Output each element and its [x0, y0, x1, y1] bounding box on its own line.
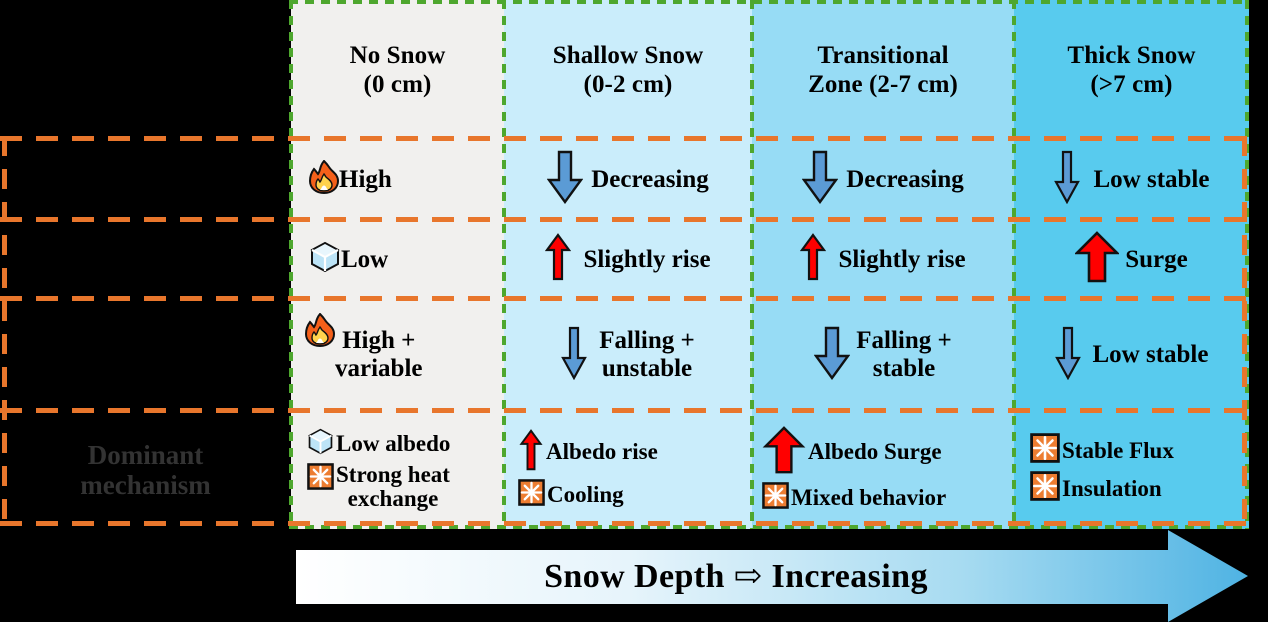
row-1-cell-no-snow: High: [291, 139, 504, 220]
arrow-up-red-thin-icon: [800, 233, 826, 286]
header-shallow-snow-line2: (0-2 cm): [553, 70, 704, 99]
row-1-cell-shallow-snow: Decreasing: [504, 139, 752, 220]
column-divider-green: [750, 0, 754, 529]
row-3-shallow-snow-line1: Falling +: [599, 327, 695, 356]
row-divider-orange: [0, 408, 1249, 413]
mechanism-list-thick-snow: Stable Flux Insulation: [1030, 433, 1174, 507]
header-shallow-snow-line1: Shallow Snow: [553, 42, 704, 69]
header-no-snow-line2: (0 cm): [350, 70, 446, 99]
row-3-cell-transitional: Falling + stable: [752, 299, 1014, 411]
row-3-no-snow-text: High + variable: [335, 327, 423, 384]
sparkle-icon: [1030, 471, 1060, 507]
mechanism-list-shallow-snow: Albedo rise Cooling: [518, 429, 658, 512]
snow-depth-axis-banner: Snow Depth ⇨ Increasing: [296, 530, 1248, 622]
header-transitional-text: Transitional Zone (2-7 cm): [808, 41, 958, 99]
row-3-thick-snow-text: Low stable: [1093, 341, 1209, 369]
header-transitional-line1: Transitional: [817, 42, 948, 69]
row-1-thick-snow-text: Low stable: [1094, 166, 1210, 194]
row-3-no-snow-line2: variable: [335, 355, 423, 384]
row-3-cell-shallow-snow: Falling + unstable: [504, 299, 752, 411]
header-transitional-line2: Zone (2-7 cm): [808, 70, 958, 99]
row-3-shallow-snow-line2: unstable: [602, 355, 692, 384]
row-divider-orange: [0, 296, 1249, 301]
row-3-transitional-text: Falling + stable: [856, 327, 952, 384]
row-2-cell-thick-snow: Surge: [1014, 220, 1249, 299]
banner-label: Snow Depth ⇨ Increasing: [296, 530, 1176, 622]
arrow-down-blue-thin-icon: [1055, 326, 1081, 385]
column-divider-green: [502, 0, 506, 529]
mechanism-list-no-snow: Low albedo Strong heat: [307, 428, 450, 512]
row-1-shallow-snow-text: Decreasing: [591, 166, 709, 194]
header-shallow-snow-text: Shallow Snow (0-2 cm): [553, 41, 704, 99]
mechanism-item: Stable Flux: [1030, 433, 1174, 469]
arrow-down-blue-thin-icon: [1054, 150, 1080, 209]
mechanism-item: Insulation: [1030, 471, 1162, 507]
column-divider-green: [289, 0, 293, 529]
row-2-label-cell: [0, 220, 291, 299]
row-2-no-snow-text: Low: [341, 246, 388, 274]
arrow-up-red-wide-icon: [762, 426, 806, 480]
row-3-transitional-line2: stable: [873, 355, 936, 384]
row-4-cell-thick-snow: Stable Flux Insulation: [1014, 411, 1249, 529]
row-3-shallow-snow-text: Falling + unstable: [599, 327, 695, 384]
header-cell-thick-snow: Thick Snow (>7 cm): [1014, 0, 1249, 139]
fire-icon: [305, 313, 335, 352]
mechanism-no-snow-item-2-text: Strong heat: [336, 463, 450, 488]
header-corner-cell: [0, 0, 291, 139]
arrow-down-blue-icon: [547, 150, 583, 209]
row-3-cell-no-snow: High + variable: [291, 299, 504, 411]
mechanism-no-snow-item-2-text2: exchange: [348, 487, 439, 512]
sparkle-icon: [1030, 433, 1060, 469]
header-cell-shallow-snow: Shallow Snow (0-2 cm): [504, 0, 752, 139]
mechanism-transitional-item-1-text: Albedo Surge: [808, 440, 942, 465]
row-divider-orange: [0, 521, 1249, 526]
header-thick-snow-line1: Thick Snow: [1067, 42, 1195, 69]
column-divider-green: [1012, 0, 1016, 529]
row-4-label-text: Dominant mechanism: [80, 440, 211, 500]
header-cell-no-snow: No Snow (0 cm): [291, 0, 504, 139]
header-no-snow-text: No Snow (0 cm): [350, 41, 446, 99]
row-1-transitional-text: Decreasing: [846, 166, 964, 194]
ice-cube-icon: [309, 241, 341, 278]
arrow-down-blue-icon: [802, 150, 838, 209]
sparkle-icon: [518, 479, 545, 512]
mechanism-list-transitional: Albedo Surge Mixed behavior: [762, 426, 946, 515]
mechanism-thick-snow-item-1-text: Stable Flux: [1062, 439, 1174, 464]
arrow-up-red-wide-icon: [1075, 231, 1119, 288]
row-1-label-cell: [0, 139, 291, 220]
header-thick-snow-text: Thick Snow (>7 cm): [1067, 41, 1195, 99]
row-2-thick-snow-text: Surge: [1125, 246, 1188, 274]
arrow-down-blue-thin-icon: [561, 326, 587, 385]
row-1-cell-transitional: Decreasing: [752, 139, 1014, 220]
row-4-label-line1: Dominant: [88, 440, 204, 470]
mechanism-item: Mixed behavior: [762, 482, 946, 515]
matrix-grid: No Snow (0 cm) Shallow Snow (0-2 cm) Tra…: [0, 0, 1249, 529]
row-4-cell-shallow-snow: Albedo rise Cooling: [504, 411, 752, 529]
row-1-cell-thick-snow: Low stable: [1014, 139, 1249, 220]
header-thick-snow-line2: (>7 cm): [1067, 70, 1195, 99]
arrow-up-red-thin-icon: [518, 429, 544, 477]
ice-cube-icon: [307, 428, 334, 461]
mechanism-thick-snow-item-2-text: Insulation: [1062, 477, 1162, 502]
sparkle-icon: [762, 482, 789, 515]
mechanism-item: Low albedo: [307, 428, 450, 461]
row-4-label-cell: Dominant mechanism: [0, 411, 291, 529]
fire-icon: [309, 160, 339, 199]
mechanism-no-snow-item-2: Strong heat exchange: [336, 463, 450, 513]
row-2-shallow-snow-text: Slightly rise: [583, 246, 710, 274]
regime-matrix: No Snow (0 cm) Shallow Snow (0-2 cm) Tra…: [0, 0, 1249, 529]
mechanism-item: Strong heat exchange: [307, 463, 450, 513]
mechanism-item: Cooling: [518, 479, 624, 512]
row-2-cell-no-snow: Low: [291, 220, 504, 299]
row-grid-right-orange: [1242, 136, 1247, 526]
row-grid-left-orange: [2, 136, 7, 526]
mechanism-item: Albedo Surge: [762, 426, 942, 480]
table-border-top-green: [289, 0, 1249, 4]
row-2-transitional-text: Slightly rise: [838, 246, 965, 274]
figure-root: No Snow (0 cm) Shallow Snow (0-2 cm) Tra…: [0, 0, 1268, 622]
row-4-cell-no-snow: Low albedo Strong heat: [291, 411, 504, 529]
header-no-snow-line1: No Snow: [350, 42, 446, 69]
row-3-cell-thick-snow: Low stable: [1014, 299, 1249, 411]
row-divider-orange: [0, 217, 1249, 222]
row-3-no-snow-line1: High +: [342, 327, 415, 356]
row-1-no-snow-text: High: [339, 166, 392, 194]
sparkle-icon: [307, 463, 334, 496]
arrow-up-red-thin-icon: [545, 233, 571, 286]
arrow-down-blue-icon: [814, 326, 850, 385]
mechanism-no-snow-item-1-text: Low albedo: [336, 432, 450, 457]
mechanism-transitional-item-2-text: Mixed behavior: [791, 486, 946, 511]
row-2-cell-shallow-snow: Slightly rise: [504, 220, 752, 299]
row-divider-orange: [0, 136, 1249, 141]
row-3-transitional-line1: Falling +: [856, 327, 952, 356]
row-3-label-cell: [0, 299, 291, 411]
row-4-label-line2: mechanism: [80, 470, 211, 500]
header-cell-transitional: Transitional Zone (2-7 cm): [752, 0, 1014, 139]
mechanism-shallow-snow-item-1-text: Albedo rise: [546, 440, 658, 465]
mechanism-item: Albedo rise: [518, 429, 658, 477]
row-4-cell-transitional: Albedo Surge Mixed behavior: [752, 411, 1014, 529]
row-2-cell-transitional: Slightly rise: [752, 220, 1014, 299]
mechanism-shallow-snow-item-2-text: Cooling: [547, 483, 624, 508]
